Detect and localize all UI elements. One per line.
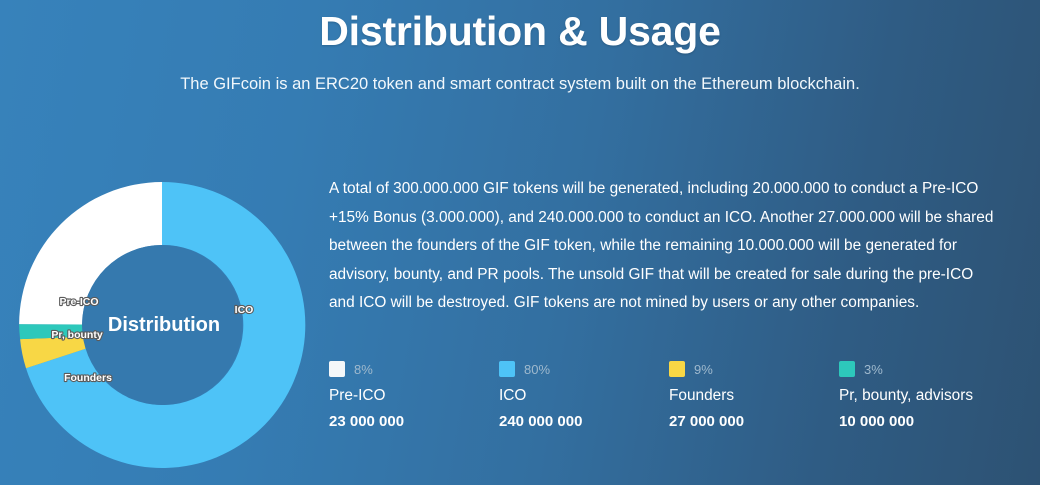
legend-percent: 3%	[864, 362, 883, 377]
legend-name: Pre-ICO	[329, 387, 499, 405]
legend-name: Pr, bounty, advisors	[839, 387, 1009, 405]
legend-item-ico[interactable]: 80% ICO 240 000 000	[499, 360, 669, 430]
legend-swatch-icon	[329, 361, 345, 377]
legend-swatch-icon	[669, 361, 685, 377]
legend-swatch-icon	[499, 361, 515, 377]
legend-name: Founders	[669, 387, 839, 405]
legend-top-row: 80%	[499, 360, 669, 378]
legend-name: ICO	[499, 387, 669, 405]
slice-label-pr-bounty: Pr, bounty	[51, 329, 102, 341]
legend-value: 23 000 000	[329, 413, 499, 430]
page-title: Distribution & Usage	[0, 8, 1040, 55]
donut-chart-svg: Distribution ICO Founders Pr, bounty Pre…	[18, 181, 306, 469]
legend-value: 240 000 000	[499, 413, 669, 430]
legend-percent: 80%	[524, 362, 550, 377]
legend-value: 10 000 000	[839, 413, 1009, 430]
legend-top-row: 8%	[329, 360, 499, 378]
legend-item-pr-bounty-advisors[interactable]: 3% Pr, bounty, advisors 10 000 000	[839, 360, 1009, 430]
legend-item-pre-ico[interactable]: 8% Pre-ICO 23 000 000	[329, 360, 499, 430]
donut-center-label: Distribution	[108, 314, 220, 336]
legend-percent: 9%	[694, 362, 713, 377]
legend-top-row: 9%	[669, 360, 839, 378]
legend-swatch-icon	[839, 361, 855, 377]
slice-label-pre-ico: Pre-ICO	[59, 296, 98, 308]
slice-label-founders: Founders	[64, 372, 112, 384]
distribution-usage-section: Distribution & Usage The GIFcoin is an E…	[0, 0, 1040, 485]
slice-label-ico: ICO	[235, 304, 254, 316]
legend-percent: 8%	[354, 362, 373, 377]
legend-item-founders[interactable]: 9% Founders 27 000 000	[669, 360, 839, 430]
distribution-legend: 8% Pre-ICO 23 000 000 80% ICO 240 000 00…	[329, 360, 1009, 430]
legend-value: 27 000 000	[669, 413, 839, 430]
legend-top-row: 3%	[839, 360, 1009, 378]
page-subtitle: The GIFcoin is an ERC20 token and smart …	[0, 75, 1040, 94]
distribution-donut-chart: Distribution ICO Founders Pr, bounty Pre…	[18, 181, 306, 469]
distribution-description: A total of 300.000.000 GIF tokens will b…	[329, 175, 1001, 318]
